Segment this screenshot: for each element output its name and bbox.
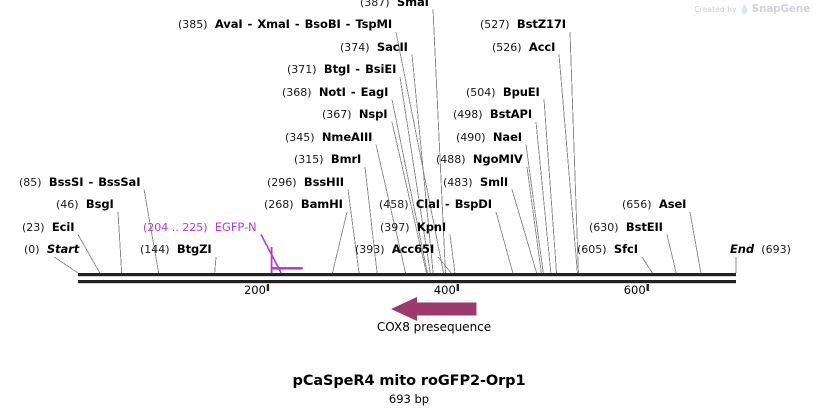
ruler-tick-600: 600 bbox=[624, 283, 646, 297]
site-label-end[interactable]: End (693) bbox=[730, 243, 791, 256]
site-label-sacii[interactable]: (374) SacII bbox=[340, 41, 408, 54]
site-enzyme-name: NotI bbox=[319, 85, 346, 99]
site-label-nspi[interactable]: (367) NspI bbox=[322, 108, 388, 121]
site-enzyme-name: BsgI bbox=[86, 197, 114, 211]
site-position: (368) bbox=[282, 86, 312, 99]
site-position: (204 .. 225) bbox=[143, 221, 208, 234]
site-position: (385) bbox=[178, 18, 208, 31]
site-enzyme-name: NspI bbox=[359, 107, 388, 121]
site-label-bmri[interactable]: (315) BmrI bbox=[294, 153, 361, 166]
site-label-sfci[interactable]: (605) SfcI bbox=[577, 243, 638, 256]
site-enzyme-name: SmlI bbox=[480, 175, 508, 189]
site-enzyme-name: AccI bbox=[529, 40, 555, 54]
title-block: pCaSpeR4 mito roGFP2-Orp1 693 bp bbox=[0, 373, 818, 406]
site-position: (527) bbox=[480, 18, 510, 31]
site-position: (371) bbox=[287, 63, 317, 76]
site-enzyme-name: NmeAIII bbox=[322, 130, 372, 144]
site-position: (345) bbox=[285, 131, 315, 144]
site-enzyme-name: Start bbox=[47, 242, 79, 256]
site-label-bamhi[interactable]: (268) BamHI bbox=[264, 198, 343, 211]
site-position: (656) bbox=[622, 198, 652, 211]
site-enzyme-name: EGFP-N bbox=[215, 220, 257, 234]
site-position: (397) bbox=[380, 221, 410, 234]
site-enzyme-name: BspDI bbox=[455, 197, 492, 211]
page-title: pCaSpeR4 mito roGFP2-Orp1 bbox=[0, 373, 818, 389]
site-enzyme-name: SacII bbox=[377, 40, 408, 54]
site-enzyme-name: BssSI bbox=[49, 175, 84, 189]
site-enzyme-name: NaeI bbox=[493, 130, 522, 144]
plasmid-map: Created by SnapGene (0) Start(23) EciI(4… bbox=[0, 0, 818, 415]
site-position: (630) bbox=[589, 221, 619, 234]
site-enzyme-name: Acc65I bbox=[392, 242, 434, 256]
ruler-tick-400: 400 bbox=[434, 283, 456, 297]
site-label-bsssi[interactable]: (85) BssSI - BssSaI bbox=[19, 176, 140, 189]
site-label-nmeaiii[interactable]: (345) NmeAIII bbox=[285, 131, 372, 144]
site-position: (393) bbox=[355, 243, 385, 256]
site-enzyme-name: EciI bbox=[52, 220, 75, 234]
site-label-asei[interactable]: (656) AseI bbox=[622, 198, 686, 211]
site-name-separator: - bbox=[243, 17, 258, 31]
site-enzyme-name: BpuEI bbox=[503, 85, 540, 99]
site-label-egfp-n[interactable]: (204 .. 225) EGFP-N bbox=[143, 221, 257, 234]
site-position: (498) bbox=[453, 108, 483, 121]
site-label-bstz17i[interactable]: (527) BstZ17I bbox=[480, 18, 566, 31]
ruler-tick-200: 200 bbox=[244, 283, 266, 297]
site-label-naei[interactable]: (490) NaeI bbox=[456, 131, 522, 144]
site-enzyme-name: KpnI bbox=[417, 220, 446, 234]
site-label-btgzi[interactable]: (144) BtgZI bbox=[140, 243, 212, 256]
site-label-bsteii[interactable]: (630) BstEII bbox=[589, 221, 663, 234]
site-position: (367) bbox=[322, 108, 352, 121]
site-name-separator: - bbox=[346, 85, 361, 99]
site-label-bsgi[interactable]: (46) BsgI bbox=[56, 198, 114, 211]
site-position: (490) bbox=[456, 131, 486, 144]
site-position: (0) bbox=[24, 243, 40, 256]
site-label-bstapi[interactable]: (498) BstAPI bbox=[453, 108, 532, 121]
site-position: (46) bbox=[56, 198, 79, 211]
site-position: (268) bbox=[264, 198, 294, 211]
site-label-smli[interactable]: (483) SmlI bbox=[443, 176, 508, 189]
site-enzyme-name: BtgI bbox=[324, 62, 350, 76]
cox8-presequence-arrow[interactable] bbox=[391, 297, 476, 321]
site-enzyme-name: BstZ17I bbox=[517, 17, 566, 31]
plasmid-length-label: 693 bp bbox=[0, 392, 818, 406]
site-name-separator: - bbox=[290, 17, 305, 31]
site-label-noti[interactable]: (368) NotI - EagI bbox=[282, 86, 388, 99]
site-label-smai[interactable]: (387) SmaI bbox=[360, 0, 429, 9]
site-enzyme-name: BstAPI bbox=[490, 107, 532, 121]
site-label-acc65i[interactable]: (393) Acc65I bbox=[355, 243, 434, 256]
site-position: (144) bbox=[140, 243, 170, 256]
site-enzyme-name: End bbox=[730, 242, 754, 256]
site-label-kpni[interactable]: (397) KpnI bbox=[380, 221, 446, 234]
site-position: (488) bbox=[436, 153, 466, 166]
site-enzyme-name: SfcI bbox=[614, 242, 638, 256]
site-enzyme-name: AvaI bbox=[215, 17, 243, 31]
site-label-ngomiv[interactable]: (488) NgoMIV bbox=[436, 153, 523, 166]
site-enzyme-name: BstEII bbox=[626, 220, 663, 234]
site-enzyme-name: BamHI bbox=[301, 197, 343, 211]
site-position: (315) bbox=[294, 153, 324, 166]
site-position: (387) bbox=[360, 0, 390, 9]
site-enzyme-name: ClaI bbox=[416, 197, 440, 211]
site-position: (458) bbox=[379, 198, 409, 211]
cox8-presequence-label: COX8 presequence bbox=[377, 320, 491, 334]
site-enzyme-name: EagI bbox=[361, 85, 389, 99]
site-position: (23) bbox=[22, 221, 45, 234]
site-label-ecii[interactable]: (23) EciI bbox=[22, 221, 74, 234]
site-position: (296) bbox=[267, 176, 297, 189]
site-enzyme-name: BtgZI bbox=[177, 242, 212, 256]
site-name-separator: - bbox=[350, 62, 365, 76]
site-enzyme-name: BssSaI bbox=[98, 175, 140, 189]
site-position: (483) bbox=[443, 176, 473, 189]
site-position: (605) bbox=[577, 243, 607, 256]
site-label-btgi[interactable]: (371) BtgI - BsiEI bbox=[287, 63, 396, 76]
site-position: (693) bbox=[761, 243, 791, 256]
site-enzyme-name: TspMI bbox=[355, 17, 392, 31]
site-enzyme-name: SmaI bbox=[397, 0, 429, 9]
site-enzyme-name: BmrI bbox=[331, 152, 361, 166]
site-enzyme-name: BsiEI bbox=[365, 62, 396, 76]
site-label-acci[interactable]: (526) AccI bbox=[492, 41, 555, 54]
site-label-clai[interactable]: (458) ClaI - BspDI bbox=[379, 198, 492, 211]
site-enzyme-name: AseI bbox=[659, 197, 686, 211]
site-label-bsshii[interactable]: (296) BssHII bbox=[267, 176, 344, 189]
site-enzyme-name: BsoBI bbox=[305, 17, 341, 31]
site-position: (504) bbox=[466, 86, 496, 99]
site-position: (85) bbox=[19, 176, 42, 189]
site-name-separator: - bbox=[341, 17, 356, 31]
site-enzyme-name: NgoMIV bbox=[473, 152, 523, 166]
site-name-separator: - bbox=[440, 197, 455, 211]
site-label-start[interactable]: (0) Start bbox=[24, 243, 79, 256]
site-name-separator: - bbox=[83, 175, 98, 189]
site-label-avai[interactable]: (385) AvaI - XmaI - BsoBI - TspMI bbox=[178, 18, 392, 31]
site-position: (526) bbox=[492, 41, 522, 54]
site-position: (374) bbox=[340, 41, 370, 54]
site-label-bpuei[interactable]: (504) BpuEI bbox=[466, 86, 540, 99]
site-enzyme-name: BssHII bbox=[304, 175, 344, 189]
site-enzyme-name: XmaI bbox=[257, 17, 290, 31]
